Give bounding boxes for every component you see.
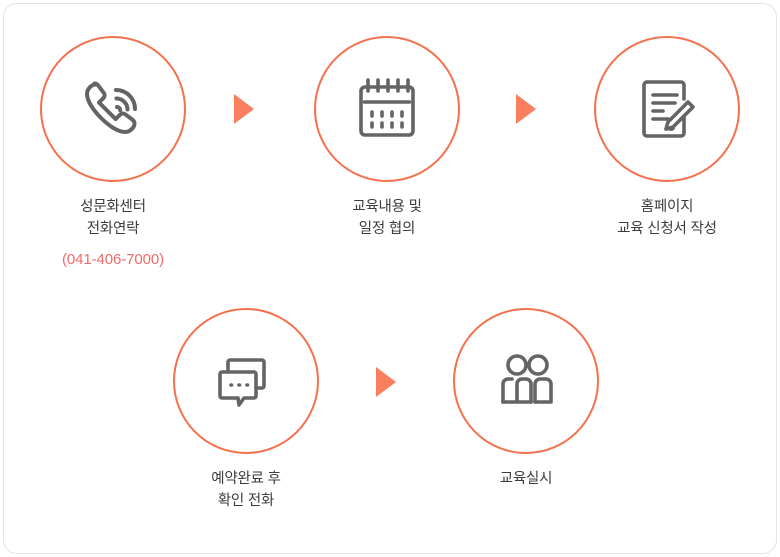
step-3-circle — [594, 36, 740, 182]
step-1-labels: 성문화센터 전화연락 (041-406-7000) — [33, 196, 193, 271]
chat-bubbles-icon — [210, 345, 282, 417]
step-5-circle — [453, 308, 599, 454]
step-3-labels: 홈페이지 교육 신청서 작성 — [587, 196, 747, 241]
step-2-label-line-2: 일정 협의 — [307, 218, 467, 240]
arrow-right-icon-3 — [376, 367, 396, 397]
step-4-label-line-1: 예약완료 후 — [166, 468, 326, 490]
step-4-labels: 예약완료 후 확인 전화 — [166, 468, 326, 513]
process-flow: 성문화센터 전화연락 (041-406-7000) — [0, 0, 780, 557]
step-2-circle — [314, 36, 460, 182]
step-5-labels: 교육실시 — [446, 468, 606, 490]
process-step-2: 교육내용 및 일정 협의 — [307, 36, 467, 241]
arrow-right-icon-2 — [516, 94, 536, 124]
step-4-circle — [173, 308, 319, 454]
diagram-page: 성문화센터 전화연락 (041-406-7000) — [0, 0, 780, 557]
step-2-labels: 교육내용 및 일정 협의 — [307, 196, 467, 241]
process-step-1: 성문화센터 전화연락 (041-406-7000) — [33, 36, 193, 271]
step-4-label-line-2: 확인 전화 — [166, 490, 326, 512]
calendar-icon — [351, 73, 423, 145]
process-step-5: 교육실시 — [446, 308, 606, 490]
two-people-icon — [489, 344, 563, 418]
process-step-4: 예약완료 후 확인 전화 — [166, 308, 326, 513]
step-1-phone-number: (041-406-7000) — [33, 248, 193, 271]
step-2-label-line-1: 교육내용 및 — [307, 196, 467, 218]
step-1-label-line-2: 전화연락 — [33, 218, 193, 240]
step-1-label-line-1: 성문화센터 — [33, 196, 193, 218]
step-1-circle — [40, 36, 186, 182]
document-pen-icon — [630, 72, 704, 146]
process-step-3: 홈페이지 교육 신청서 작성 — [587, 36, 747, 241]
step-5-label-line-1: 교육실시 — [446, 468, 606, 490]
step-3-label-line-2: 교육 신청서 작성 — [587, 218, 747, 240]
phone-call-icon — [75, 71, 151, 147]
arrow-right-icon-1 — [234, 94, 254, 124]
step-3-label-line-1: 홈페이지 — [587, 196, 747, 218]
